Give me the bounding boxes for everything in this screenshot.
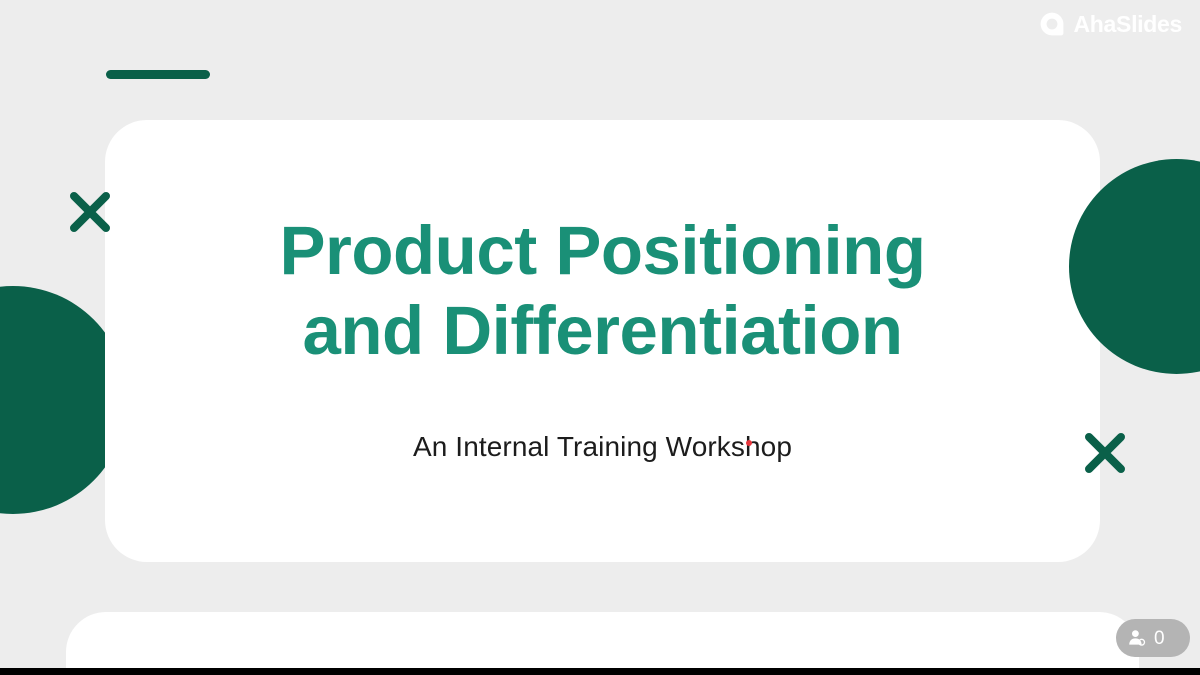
title-block: Product Positioning and Differentiation … bbox=[105, 120, 1100, 562]
slide-subtitle: An Internal Training Workshop bbox=[413, 429, 792, 465]
person-icon bbox=[1127, 628, 1147, 648]
ahaslides-brand-logo: AhaSlides bbox=[1039, 11, 1182, 37]
next-slide-card bbox=[66, 612, 1139, 675]
slide-title: Product Positioning and Differentiation bbox=[263, 211, 943, 371]
ahaslides-speech-bubble-icon bbox=[1039, 11, 1065, 37]
red-dot-accent-shape bbox=[746, 440, 752, 446]
brand-name-label: AhaSlides bbox=[1073, 13, 1182, 36]
presentation-slide-viewport: Product Positioning and Differentiation … bbox=[0, 0, 1200, 675]
dash-accent-shape bbox=[106, 70, 210, 79]
participants-count-label: 0 bbox=[1154, 629, 1165, 648]
bottom-letterbox-strip bbox=[0, 668, 1200, 675]
participants-counter[interactable]: 0 bbox=[1116, 619, 1190, 657]
